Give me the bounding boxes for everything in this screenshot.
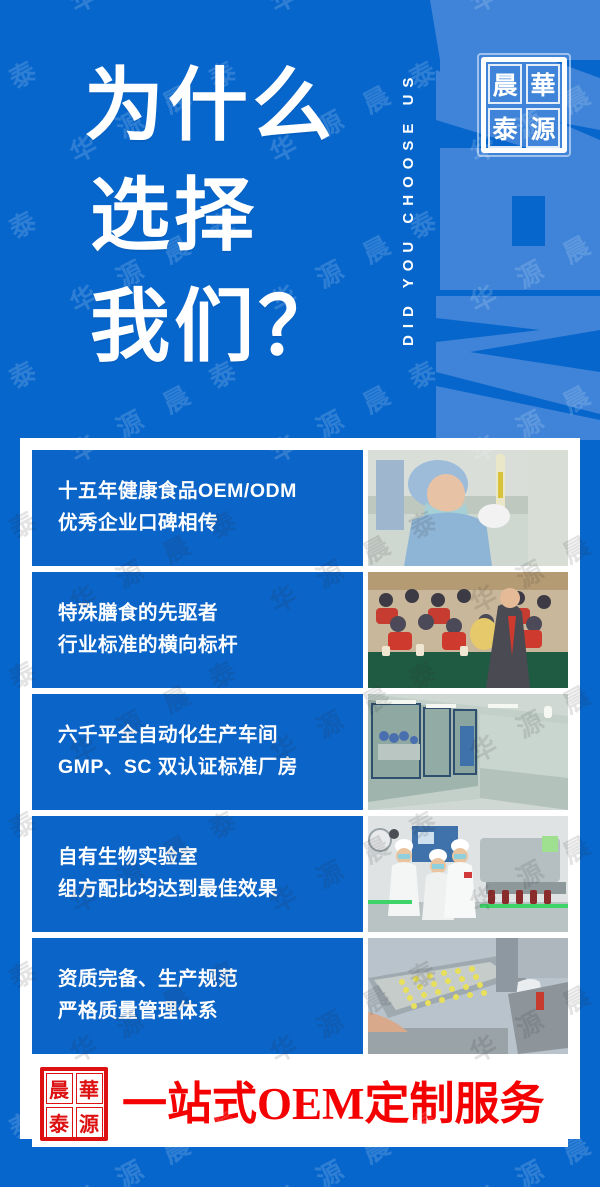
poster-header: 为什么 选择 我们？ DID YOU CHOOSE US 晨 華 泰 源 xyxy=(0,0,600,438)
feature-row: 十五年健康食品OEM/ODM 优秀企业口碑相传 xyxy=(32,450,568,566)
seal-char-1: 晨 xyxy=(488,64,522,104)
feature-text-card: 特殊膳食的先驱者 行业标准的横向标杆 xyxy=(32,572,363,688)
vertical-english-tagline: DID YOU CHOOSE US xyxy=(400,8,434,408)
features-frame: 十五年健康食品OEM/ODM 优秀企业口碑相传 xyxy=(20,438,580,1139)
feature-line-1: 十五年健康食品OEM/ODM xyxy=(58,476,363,508)
page-title: 为什么 选择 我们？ xyxy=(84,52,342,383)
seal-char-1: 晨 xyxy=(46,1073,73,1104)
feature-text-card: 十五年健康食品OEM/ODM 优秀企业口碑相传 xyxy=(32,450,363,566)
feature-text-card: 资质完备、生产规范 严格质量管理体系 xyxy=(32,938,363,1054)
feature-row: 特殊膳食的先驱者 行业标准的横向标杆 xyxy=(32,572,568,688)
poster-root: 为什么 选择 我们？ DID YOU CHOOSE US 晨 華 泰 源 十五年… xyxy=(0,0,600,1187)
title-line-2: 选择 xyxy=(90,162,342,272)
feature-photo-blister-packaging-machine xyxy=(368,938,568,1054)
title-line-1: 为什么 xyxy=(84,52,342,162)
seal-char-2: 華 xyxy=(526,64,560,104)
feature-photo-production-line-workers xyxy=(368,816,568,932)
seal-char-2: 華 xyxy=(76,1073,103,1104)
feature-line-1: 自有生物实验室 xyxy=(58,842,363,874)
feature-line-2: 行业标准的横向标杆 xyxy=(58,630,363,662)
feature-line-1: 特殊膳食的先驱者 xyxy=(58,598,363,630)
feature-text-card: 六千平全自动化生产车间 GMP、SC 双认证标准厂房 xyxy=(32,694,363,810)
feature-photo-conference-audience xyxy=(368,572,568,688)
feature-row: 六千平全自动化生产车间 GMP、SC 双认证标准厂房 xyxy=(32,694,568,810)
feature-line-2: GMP、SC 双认证标准厂房 xyxy=(58,752,363,784)
feature-row: 自有生物实验室 组方配比均达到最佳效果 xyxy=(32,816,568,932)
title-line-3: 我们？ xyxy=(90,273,342,383)
cta-text: 一站式OEM定制服务 xyxy=(122,1082,545,1127)
seal-char-3: 泰 xyxy=(46,1107,73,1138)
feature-text-card: 自有生物实验室 组方配比均达到最佳效果 xyxy=(32,816,363,932)
feature-line-2: 严格质量管理体系 xyxy=(58,996,363,1028)
feature-line-1: 六千平全自动化生产车间 xyxy=(58,720,363,752)
seal-char-3: 泰 xyxy=(488,108,522,148)
feature-rows: 十五年健康食品OEM/ODM 优秀企业口碑相传 xyxy=(32,450,568,1054)
seal-char-4: 源 xyxy=(76,1107,103,1138)
feature-line-1: 资质完备、生产规范 xyxy=(58,964,363,996)
brand-seal-logo: 晨 華 泰 源 xyxy=(481,57,567,153)
feature-line-2: 组方配比均达到最佳效果 xyxy=(58,874,363,906)
feature-line-2: 优秀企业口碑相传 xyxy=(58,508,363,540)
bottom-cta-banner: 晨 華 泰 源 一站式OEM定制服务 xyxy=(32,1061,568,1147)
brand-seal-logo-red: 晨 華 泰 源 xyxy=(40,1067,108,1141)
feature-row: 资质完备、生产规范 严格质量管理体系 xyxy=(32,938,568,1054)
seal-char-4: 源 xyxy=(526,108,560,148)
feature-photo-lab-technician xyxy=(368,450,568,566)
feature-photo-cleanroom-corridor xyxy=(368,694,568,810)
